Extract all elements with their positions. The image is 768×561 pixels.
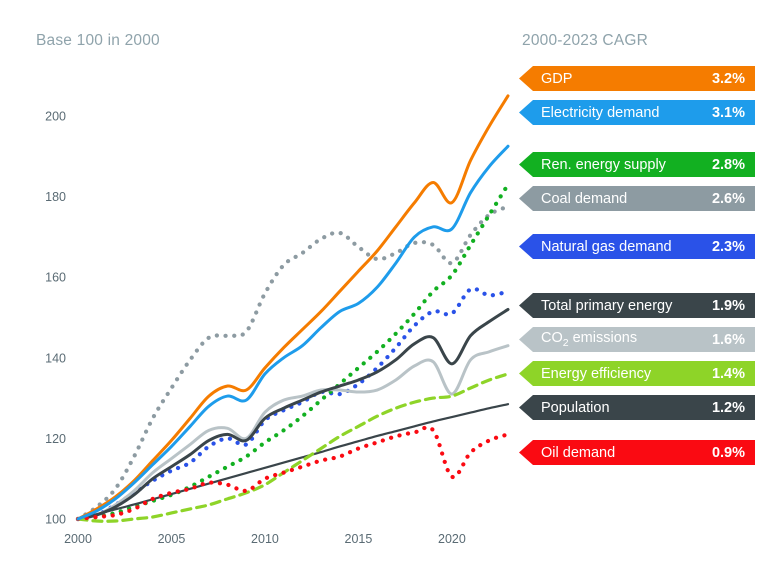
legend-label: Electricity demand: [541, 105, 659, 121]
legend-value: 1.6%: [712, 332, 745, 348]
y-axis-tick-label: 180: [45, 190, 66, 204]
legend-label: Natural gas demand: [541, 239, 672, 255]
series-line: [78, 346, 508, 519]
legend-value: 1.4%: [712, 366, 745, 382]
y-axis-tick-label: 200: [45, 110, 66, 124]
legend-badge[interactable]: Coal demand2.6%: [519, 186, 755, 211]
y-axis-tick-label: 160: [45, 271, 66, 285]
legend-label: Ren. energy supply: [541, 157, 666, 173]
legend-badge[interactable]: Ren. energy supply2.8%: [519, 152, 755, 177]
y-axis-tick-label: 120: [45, 432, 66, 446]
series-line: [78, 309, 508, 519]
legend-label: GDP: [541, 71, 572, 87]
legend-badge[interactable]: Total primary energy1.9%: [519, 293, 755, 318]
legend-badge[interactable]: Energy efficiency1.4%: [519, 361, 755, 386]
x-axis-tick-label: 2020: [438, 532, 466, 546]
legend-label: Oil demand: [541, 445, 615, 461]
chart-page: Base 100 in 2000 2000-2023 CAGR 10012014…: [0, 0, 768, 561]
legend-badge[interactable]: GDP3.2%: [519, 66, 755, 91]
legend-label: CO2 emissions: [541, 330, 637, 349]
series-line: [78, 374, 508, 521]
x-axis-tick-label: 2005: [158, 532, 186, 546]
legend-value: 0.9%: [712, 445, 745, 461]
series-line: [78, 96, 508, 519]
legend-label: Total primary energy: [541, 298, 672, 314]
legend-badge[interactable]: Natural gas demand2.3%: [519, 234, 755, 259]
legend-value: 3.1%: [712, 105, 745, 121]
legend-label: Energy efficiency: [541, 366, 651, 382]
x-axis-tick-label: 2010: [251, 532, 279, 546]
legend-value: 1.9%: [712, 298, 745, 314]
legend-value: 2.8%: [712, 157, 745, 173]
legend-value: 3.2%: [712, 71, 745, 87]
legend-badge[interactable]: Population1.2%: [519, 395, 755, 420]
x-axis-tick-label: 2000: [64, 532, 92, 546]
legend-badge[interactable]: CO2 emissions1.6%: [519, 327, 755, 352]
legend-label: Coal demand: [541, 191, 627, 207]
legend-badge[interactable]: Electricity demand3.1%: [519, 100, 755, 125]
y-axis-tick-label: 140: [45, 351, 66, 365]
x-axis-tick-label: 2015: [345, 532, 373, 546]
legend-value: 1.2%: [712, 400, 745, 416]
legend-value: 2.6%: [712, 191, 745, 207]
legend-badge[interactable]: Oil demand0.9%: [519, 440, 755, 465]
y-axis-tick-label: 100: [45, 513, 66, 527]
chart-legend: GDP3.2%Electricity demand3.1%Ren. energy…: [505, 60, 755, 460]
legend-label: Population: [541, 400, 610, 416]
legend-value: 2.3%: [712, 239, 745, 255]
